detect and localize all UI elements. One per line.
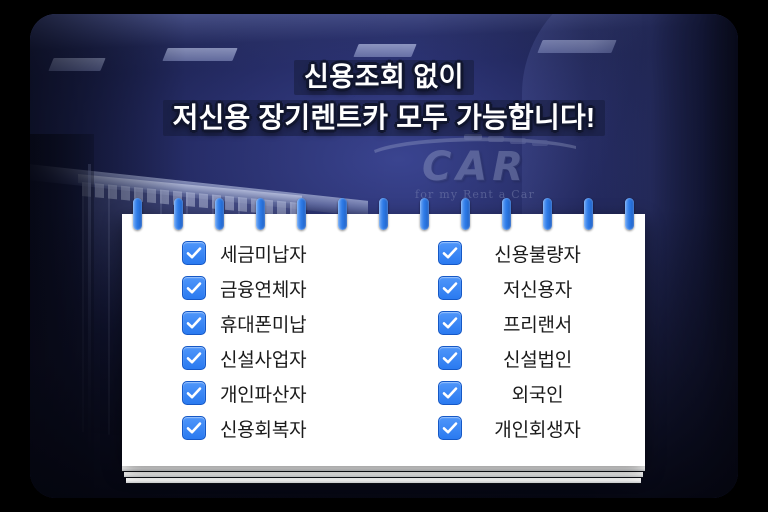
eligibility-checklist: 세금미납자 금융연체자 휴대폰미납 신설사업자 <box>122 214 645 466</box>
check-icon[interactable] <box>438 416 462 440</box>
check-icon[interactable] <box>182 346 206 370</box>
checklist-item-label: 세금미납자 <box>220 240 306 267</box>
checklist-item-label: 신설사업자 <box>220 345 306 372</box>
spiral-ring <box>625 198 634 230</box>
checklist-item-label: 개인파산자 <box>220 380 306 407</box>
checklist-item[interactable]: 저신용자 <box>438 276 646 300</box>
checklist-item[interactable]: 개인회생자 <box>438 416 646 440</box>
checklist-item-label: 프리랜서 <box>476 310 600 337</box>
page-stack <box>122 466 645 484</box>
spiral-ring <box>174 198 183 230</box>
spiral-binding <box>122 198 645 234</box>
headline-block: 신용조회 없이 저신용 장기렌트카 모두 가능합니다! <box>30 60 738 136</box>
check-icon[interactable] <box>438 346 462 370</box>
checklist-item[interactable]: 신용회복자 <box>182 416 390 440</box>
checklist-item-label: 금융연체자 <box>220 275 306 302</box>
checklist-item-label: 신용불량자 <box>476 240 600 267</box>
checklist-item[interactable]: 신용불량자 <box>438 241 646 265</box>
checklist-item[interactable]: 개인파산자 <box>182 381 390 405</box>
headline-line-1: 신용조회 없이 <box>294 60 474 95</box>
check-icon[interactable] <box>182 276 206 300</box>
check-icon[interactable] <box>182 381 206 405</box>
spiral-ring <box>502 198 511 230</box>
screenshot-stage: CAR for my Rent a Car 신용조회 없이 저신용 장기렌트카 … <box>0 0 768 512</box>
checklist-column-left: 세금미납자 금융연체자 휴대폰미납 신설사업자 <box>122 241 390 466</box>
spiral-ring <box>379 198 388 230</box>
checklist-item[interactable]: 세금미납자 <box>182 241 390 265</box>
checklist-item-label: 휴대폰미납 <box>220 310 306 337</box>
checklist-item[interactable]: 신설법인 <box>438 346 646 370</box>
check-icon[interactable] <box>438 241 462 265</box>
check-icon[interactable] <box>182 311 206 335</box>
spiral-ring <box>215 198 224 230</box>
checklist-item-label: 저신용자 <box>476 275 600 302</box>
spiral-ring <box>133 198 142 230</box>
checklist-item-label: 신설법인 <box>476 345 600 372</box>
headline-line-2: 저신용 장기렌트카 모두 가능합니다! <box>163 100 606 136</box>
page-stack-layer <box>126 478 641 484</box>
spiral-ring <box>461 198 470 230</box>
checklist-column-right: 신용불량자 저신용자 프리랜서 신설법인 <box>390 241 646 466</box>
spiral-ring <box>338 198 347 230</box>
spiral-ring <box>420 198 429 230</box>
spiral-ring <box>297 198 306 230</box>
promo-banner: CAR for my Rent a Car 신용조회 없이 저신용 장기렌트카 … <box>30 14 738 498</box>
spiral-ring <box>584 198 593 230</box>
checklist-item[interactable]: 신설사업자 <box>182 346 390 370</box>
checklist-item-label: 개인회생자 <box>476 415 600 442</box>
checklist-item-label: 신용회복자 <box>220 415 306 442</box>
spiral-ring <box>543 198 552 230</box>
check-icon[interactable] <box>438 311 462 335</box>
check-icon[interactable] <box>182 416 206 440</box>
checklist-item[interactable]: 휴대폰미납 <box>182 311 390 335</box>
spiral-ring <box>256 198 265 230</box>
check-icon[interactable] <box>438 381 462 405</box>
check-icon[interactable] <box>438 276 462 300</box>
checklist-item-label: 외국인 <box>476 380 600 407</box>
checklist-item[interactable]: 금융연체자 <box>182 276 390 300</box>
check-icon[interactable] <box>182 241 206 265</box>
checklist-item[interactable]: 외국인 <box>438 381 646 405</box>
checklist-item[interactable]: 프리랜서 <box>438 311 646 335</box>
